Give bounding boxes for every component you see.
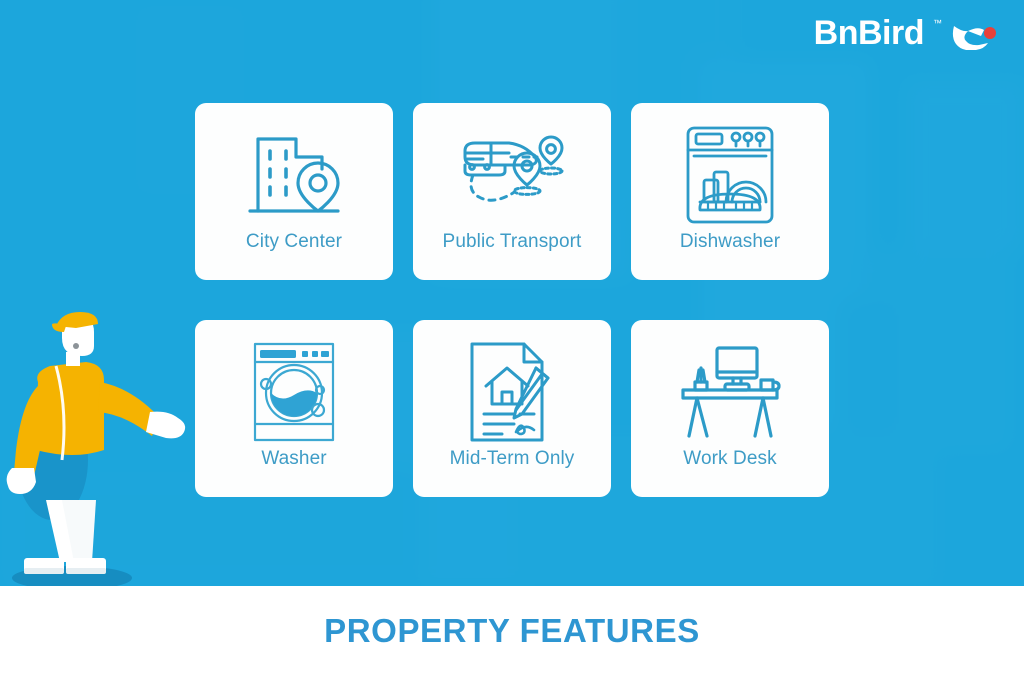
- bus-route-pins-icon: [453, 121, 571, 229]
- page-title: PROPERTY FEATURES: [0, 612, 1024, 650]
- person-figure-icon: [0, 300, 200, 586]
- feature-label: Public Transport: [443, 231, 582, 253]
- contract-pen-icon: [462, 338, 562, 446]
- brand-logo[interactable]: BnBird ™: [814, 16, 996, 55]
- feature-label: Washer: [261, 448, 326, 470]
- feature-card-dishwasher[interactable]: Dishwasher: [631, 103, 829, 280]
- brand-name: BnBird: [814, 16, 924, 50]
- washing-machine-icon: [247, 338, 341, 446]
- hero-panel: BnBird ™: [0, 0, 1024, 586]
- feature-card-grid: City Center: [195, 103, 829, 497]
- feature-card-washer[interactable]: Washer: [195, 320, 393, 497]
- desk-monitor-icon: [675, 338, 785, 446]
- feature-label: City Center: [246, 231, 342, 253]
- feature-label: Dishwasher: [680, 231, 780, 253]
- feature-card-work-desk[interactable]: Work Desk: [631, 320, 829, 497]
- standing-person-illustration: [0, 300, 200, 586]
- promo-graphic: BnBird ™: [0, 0, 1024, 683]
- building-map-pin-icon: [238, 121, 350, 229]
- trademark-symbol: ™: [933, 19, 942, 28]
- feature-label: Mid-Term Only: [450, 448, 575, 470]
- bird-icon: [950, 22, 996, 55]
- dishwasher-icon: [678, 121, 782, 229]
- feature-card-mid-term-only[interactable]: Mid-Term Only: [413, 320, 611, 497]
- feature-card-public-transport[interactable]: Public Transport: [413, 103, 611, 280]
- feature-card-city-center[interactable]: City Center: [195, 103, 393, 280]
- feature-label: Work Desk: [683, 448, 776, 470]
